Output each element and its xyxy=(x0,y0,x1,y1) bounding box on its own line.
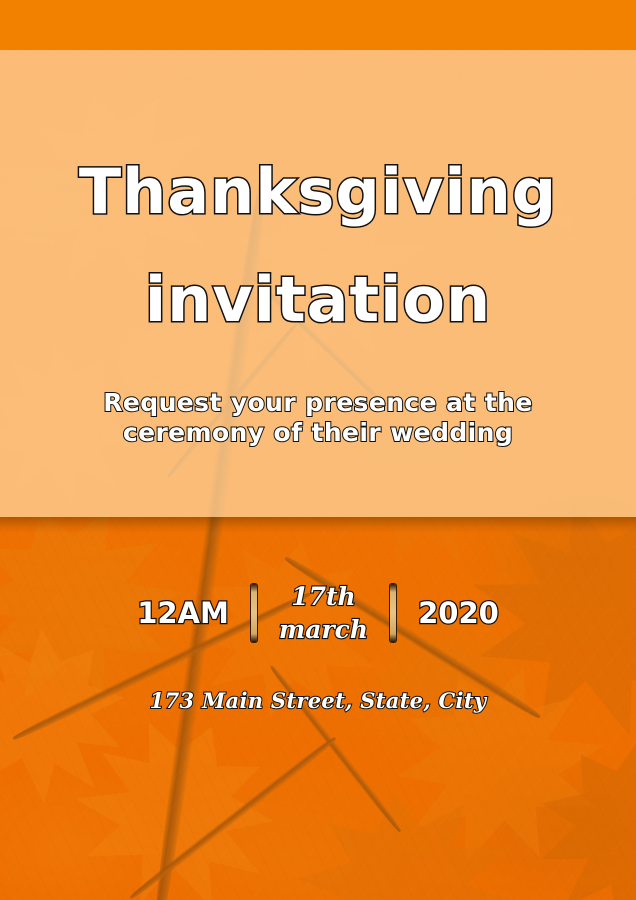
subtitle-line-2: ceremony of their wedding xyxy=(0,418,636,448)
event-year: 2020 xyxy=(418,596,499,630)
title-line-1: Thanksgiving xyxy=(0,138,636,246)
vertical-divider-left xyxy=(251,584,257,642)
subtitle: Request your presence at the ceremony of… xyxy=(0,388,636,448)
event-day: 17th xyxy=(279,580,368,613)
subtitle-line-1: Request your presence at the xyxy=(0,388,636,418)
vertical-divider-right xyxy=(390,584,396,642)
thanksgiving-invitation-poster: Thanksgiving invitation Request your pre… xyxy=(0,0,636,900)
title-line-2: invitation xyxy=(0,246,636,354)
event-time: 12AM xyxy=(137,596,229,630)
poster-content: Thanksgiving invitation Request your pre… xyxy=(0,0,636,900)
event-date: 17th march xyxy=(279,580,368,646)
page-title: Thanksgiving invitation xyxy=(0,138,636,354)
event-address: 173 Main Street, State, City xyxy=(0,688,636,714)
event-month: march xyxy=(279,613,368,646)
event-details-row: 12AM 17th march 2020 xyxy=(0,580,636,646)
